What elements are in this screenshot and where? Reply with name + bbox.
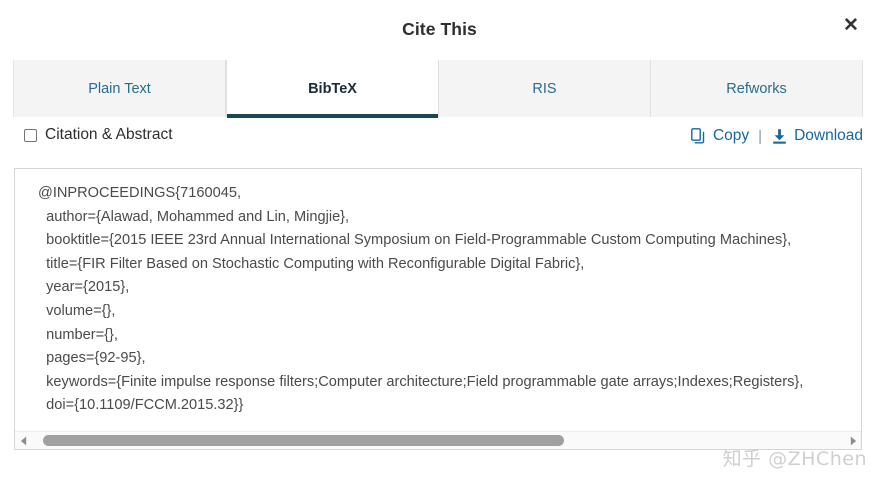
download-button[interactable]: Download [771,127,863,145]
copy-button[interactable]: Copy [691,127,749,145]
tab-plain-text[interactable]: Plain Text [14,60,226,117]
format-tabs: Plain Text BibTeX RIS Refworks [13,60,863,117]
cite-this-dialog: Cite This ✕ Plain Text BibTeX RIS Refwor… [0,0,879,485]
tab-bibtex[interactable]: BibTeX [226,60,439,117]
citation-abstract-checkbox[interactable]: Citation & Abstract [24,126,173,144]
scrollbar-thumb[interactable] [43,435,564,446]
tab-label: BibTeX [308,81,357,97]
download-icon [771,128,788,145]
tab-refworks[interactable]: Refworks [651,60,862,117]
checkbox-label: Citation & Abstract [45,126,173,144]
options-row: Citation & Abstract Copy | [13,126,863,154]
actions: Copy | Download [691,127,863,145]
tab-label: Plain Text [88,81,151,97]
copy-icon [691,128,707,145]
tab-ris[interactable]: RIS [439,60,651,117]
dialog-header: Cite This ✕ [0,0,879,58]
checkbox-box[interactable] [24,129,37,142]
citation-textarea[interactable]: @INPROCEEDINGS{7160045, author={Alawad, … [14,168,862,450]
page-title: Cite This [0,19,879,40]
tab-label: RIS [532,81,556,97]
scroll-left-arrow-icon[interactable] [15,432,31,449]
copy-label: Copy [713,127,749,145]
download-label: Download [794,127,863,145]
citation-text: @INPROCEEDINGS{7160045, author={Alawad, … [38,182,803,418]
action-separator: | [757,128,763,145]
tab-label: Refworks [726,81,786,97]
close-icon[interactable]: ✕ [838,13,864,39]
watermark: 知乎 @ZHChen [723,444,867,471]
